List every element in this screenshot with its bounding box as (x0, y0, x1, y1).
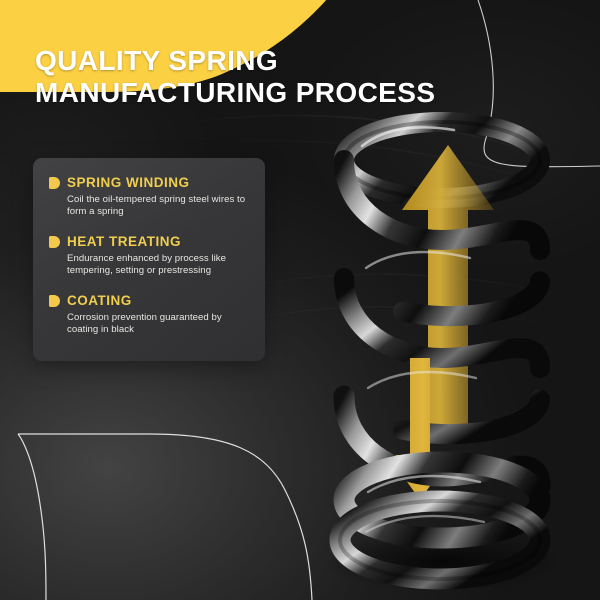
process-step: HEAT TREATING Endurance enhanced by proc… (49, 235, 249, 278)
coil-spring-illustration (322, 100, 600, 590)
bullet-marker-icon (49, 236, 60, 248)
poster-canvas: QUALITY SPRING MANUFACTURING PROCESS (0, 0, 600, 600)
bullet-marker-icon (49, 295, 60, 307)
process-step: SPRING WINDING Coil the oil-tempered spr… (49, 176, 249, 219)
process-step-header: COATING (49, 294, 249, 308)
process-step-header: SPRING WINDING (49, 176, 249, 190)
process-step-header: HEAT TREATING (49, 235, 249, 249)
process-step-title: HEAT TREATING (67, 235, 181, 249)
process-step-title: SPRING WINDING (67, 176, 190, 190)
process-step: COATING Corrosion prevention guaranteed … (49, 294, 249, 337)
process-step-description: Corrosion prevention guaranteed by coati… (67, 312, 249, 338)
process-step-title: COATING (67, 294, 132, 308)
process-steps-card: SPRING WINDING Coil the oil-tempered spr… (33, 158, 265, 361)
process-step-description: Endurance enhanced by process like tempe… (67, 253, 249, 279)
process-step-description: Coil the oil-tempered spring steel wires… (67, 194, 249, 220)
bullet-marker-icon (49, 177, 60, 189)
page-title: QUALITY SPRING MANUFACTURING PROCESS (35, 45, 515, 109)
